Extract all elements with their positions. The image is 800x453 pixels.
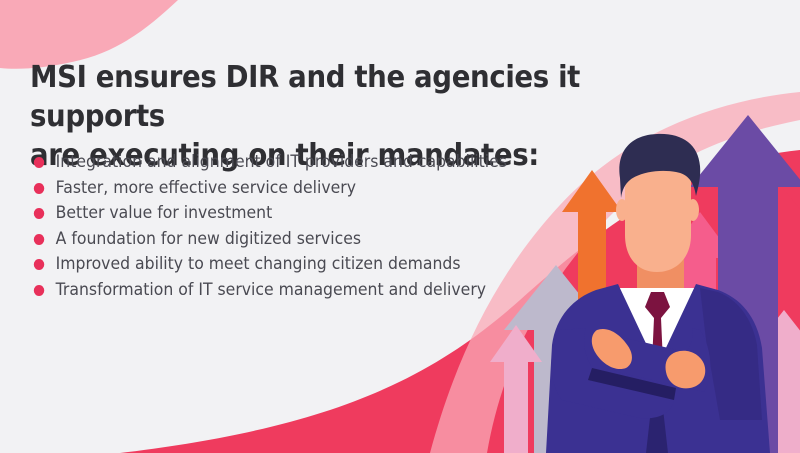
list-item: Improved ability to meet changing citize… bbox=[30, 252, 524, 276]
bullet-dot-icon bbox=[34, 157, 44, 168]
bullet-dot-icon bbox=[34, 208, 44, 219]
list-item-label: A foundation for new digitized services bbox=[56, 229, 361, 248]
ear-left bbox=[616, 199, 628, 221]
bullet-dot-icon bbox=[34, 259, 44, 270]
bullet-dot-icon bbox=[34, 183, 44, 194]
list-item: A foundation for new digitized services bbox=[30, 227, 524, 251]
bullet-dot-icon bbox=[34, 285, 44, 296]
list-item: Transformation of IT service management … bbox=[30, 278, 524, 302]
list-item-label: Faster, more effective service delivery bbox=[56, 178, 356, 197]
list-item: Faster, more effective service delivery bbox=[30, 176, 524, 200]
bullet-dot-icon bbox=[34, 234, 44, 245]
bullet-list: Integration and alignment of IT provider… bbox=[30, 150, 550, 303]
list-item-label: Integration and alignment of IT provider… bbox=[56, 152, 507, 171]
list-item-label: Better value for investment bbox=[56, 203, 273, 222]
slide: MSI ensures DIR and the agencies it supp… bbox=[0, 0, 800, 453]
list-item-label: Transformation of IT service management … bbox=[56, 280, 486, 299]
ear-right bbox=[687, 199, 699, 221]
list-item: Integration and alignment of IT provider… bbox=[30, 150, 524, 174]
list-item: Better value for investment bbox=[30, 201, 524, 225]
list-item-label: Improved ability to meet changing citize… bbox=[56, 254, 461, 273]
text-content: MSI ensures DIR and the agencies it supp… bbox=[0, 0, 560, 453]
